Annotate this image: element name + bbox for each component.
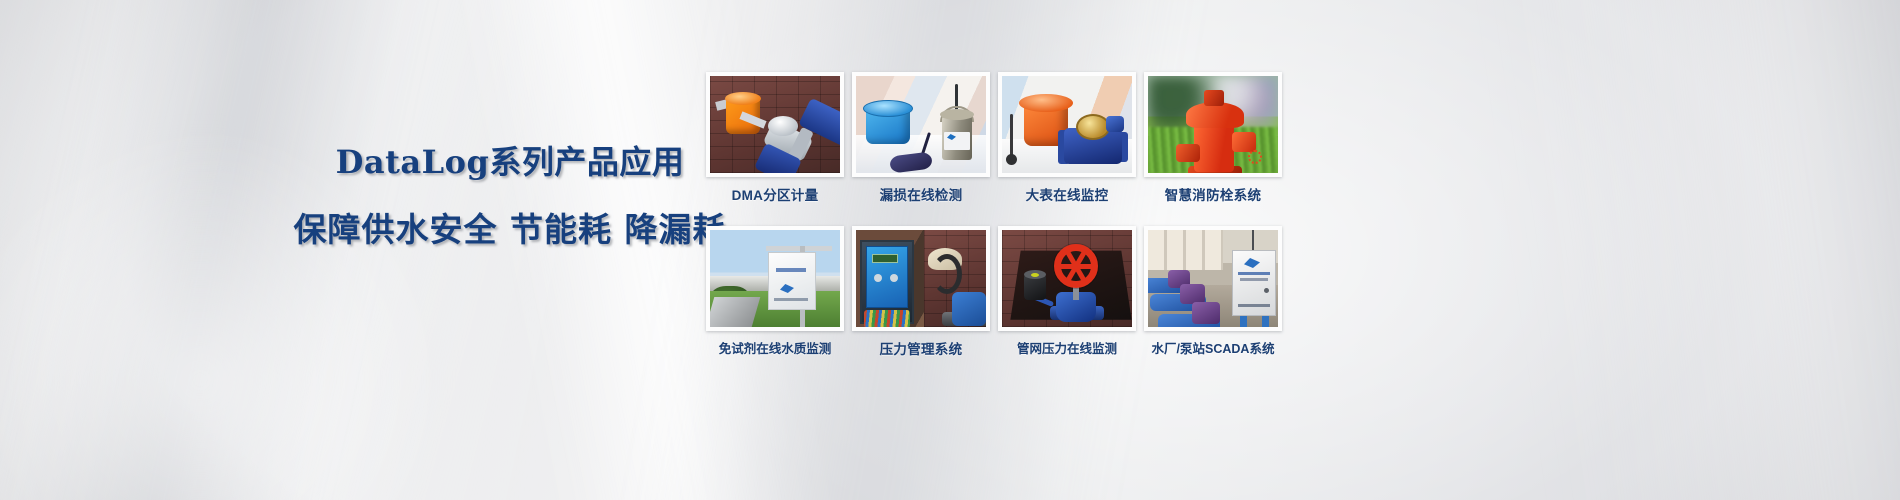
headline-line-2: 保障供水安全 节能耗 降漏耗	[250, 208, 770, 252]
pump-room-scene	[1148, 230, 1278, 327]
headline-line-1: DataLog系列产品应用	[250, 140, 770, 184]
monitoring-station-scene	[710, 230, 840, 327]
pressure-control-panel-scene	[856, 230, 986, 327]
gallery-item-waterworks-scada[interactable]: 水厂/泵站SCADA系统	[1144, 226, 1282, 372]
gallery-item-pressure-management[interactable]: 压力管理系统	[852, 226, 990, 372]
dma-zone-metering-photo[interactable]	[706, 72, 844, 177]
gallery-item-smart-fire-hydrant[interactable]: 智慧消防栓系统	[1144, 72, 1282, 218]
gallery-caption: 压力管理系统	[852, 338, 990, 358]
pressure-management-photo[interactable]	[852, 226, 990, 331]
promo-banner: DataLog系列产品应用 保障供水安全 节能耗 降漏耗 DMA分区计量	[0, 0, 1900, 500]
fire-hydrant-scene	[1148, 76, 1278, 173]
large-meter-online-monitoring-photo[interactable]	[998, 72, 1136, 177]
gallery-caption: 漏损在线检测	[852, 184, 990, 204]
waterworks-scada-photo[interactable]	[1144, 226, 1282, 331]
gallery-item-dma-zone-metering[interactable]: DMA分区计量	[706, 72, 844, 218]
gallery-caption: 水厂/泵站SCADA系统	[1144, 338, 1282, 357]
gallery-caption: 免试剂在线水质监测	[706, 338, 844, 357]
gallery-item-leakage-online-detection[interactable]: 漏损在线检测	[852, 72, 990, 218]
gallery-item-large-meter-monitoring[interactable]: 大表在线监控	[998, 72, 1136, 218]
gallery-item-water-quality-monitoring[interactable]: 免试剂在线水质监测	[706, 226, 844, 372]
reagent-free-water-quality-photo[interactable]	[706, 226, 844, 331]
smart-fire-hydrant-photo[interactable]	[1144, 72, 1282, 177]
leakage-online-detection-photo[interactable]	[852, 72, 990, 177]
gallery-caption: 管网压力在线监测	[998, 338, 1136, 357]
application-gallery: DMA分区计量 漏损在线检测	[706, 72, 1282, 372]
large-meter-scene	[1002, 76, 1132, 173]
brick-paving-scene	[710, 76, 840, 173]
gallery-caption: DMA分区计量	[706, 184, 844, 204]
gallery-caption: 智慧消防栓系统	[1144, 184, 1282, 204]
pipe-network-pressure-photo[interactable]	[998, 226, 1136, 331]
gallery-item-pipe-network-pressure[interactable]: 管网压力在线监测	[998, 226, 1136, 372]
gallery-caption: 大表在线监控	[998, 184, 1136, 204]
valve-chamber-scene	[1002, 230, 1132, 327]
headline-block: DataLog系列产品应用 保障供水安全 节能耗 降漏耗	[250, 140, 770, 252]
leak-logger-scene	[856, 76, 986, 173]
